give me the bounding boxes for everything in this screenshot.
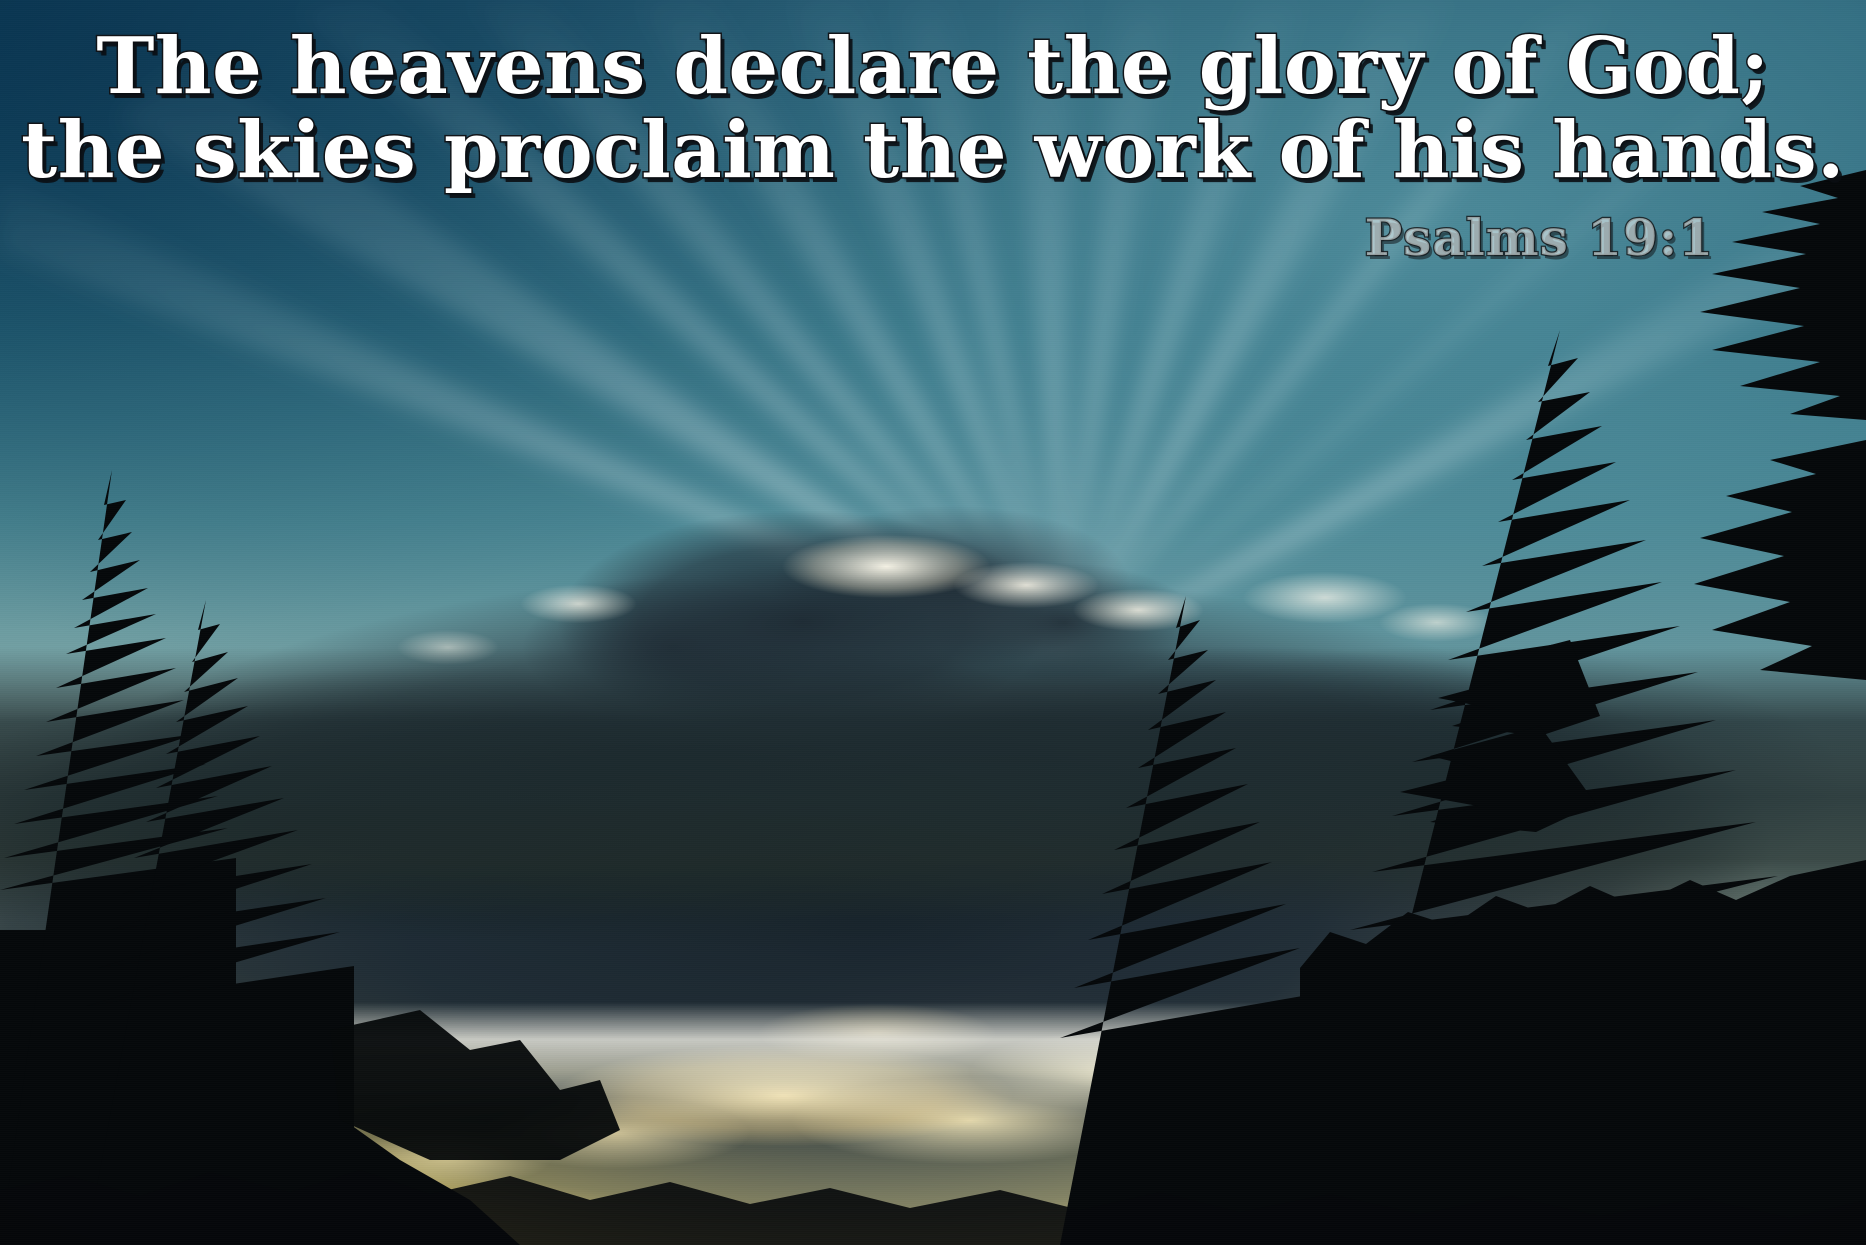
right-branches-mid <box>1694 440 1866 680</box>
verse-line-2: the skies proclaim the work of his hands… <box>0 110 1866 192</box>
left-branch-tips <box>330 1010 620 1160</box>
verse-attribution: Psalms 19:1 <box>0 208 1866 267</box>
verse-overlay: The heavens declare the glory of God; th… <box>0 0 1866 267</box>
verse-line-1: The heavens declare the glory of God; <box>0 26 1866 108</box>
centre-right-spruce <box>1060 596 1314 1245</box>
right-canopy-mass <box>1300 860 1866 1245</box>
scripture-image-canvas: The heavens declare the glory of God; th… <box>0 0 1866 1245</box>
